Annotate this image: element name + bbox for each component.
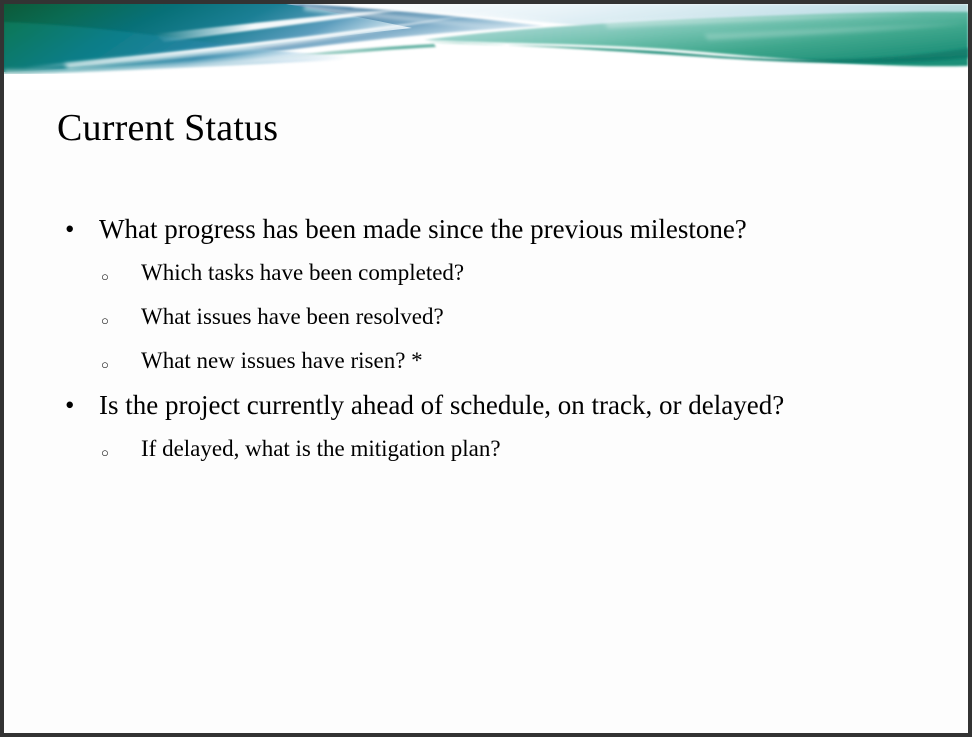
bullet-item-level1: • Is the project currently ahead of sche…	[57, 383, 927, 427]
bullet-text: Is the project currently ahead of schedu…	[99, 390, 784, 420]
bullet-item-level2: ○ Which tasks have been completed?	[57, 251, 927, 295]
decorative-wave-banner	[4, 4, 968, 90]
hollow-circle-bullet-icon: ○	[101, 427, 109, 479]
bullet-text: What issues have been resolved?	[141, 304, 444, 329]
bullet-text: Which tasks have been completed?	[141, 260, 464, 285]
bullet-item-level1: • What progress has been made since the …	[57, 207, 927, 251]
bullet-text: If delayed, what is the mitigation plan?	[141, 436, 501, 461]
filled-disc-bullet-icon: •	[65, 207, 74, 251]
bullet-text: What progress has been made since the pr…	[99, 214, 747, 244]
bullet-item-level2: ○ What new issues have risen? *	[57, 339, 927, 383]
page-title: Current Status	[57, 105, 278, 151]
presentation-slide: Current Status • What progress has been …	[0, 0, 972, 737]
bullet-text: What new issues have risen? *	[141, 348, 423, 373]
bullet-item-level2: ○ If delayed, what is the mitigation pla…	[57, 427, 927, 471]
bullet-item-level2: ○ What issues have been resolved?	[57, 295, 927, 339]
slide-body: • What progress has been made since the …	[57, 207, 927, 471]
filled-disc-bullet-icon: •	[65, 383, 74, 427]
